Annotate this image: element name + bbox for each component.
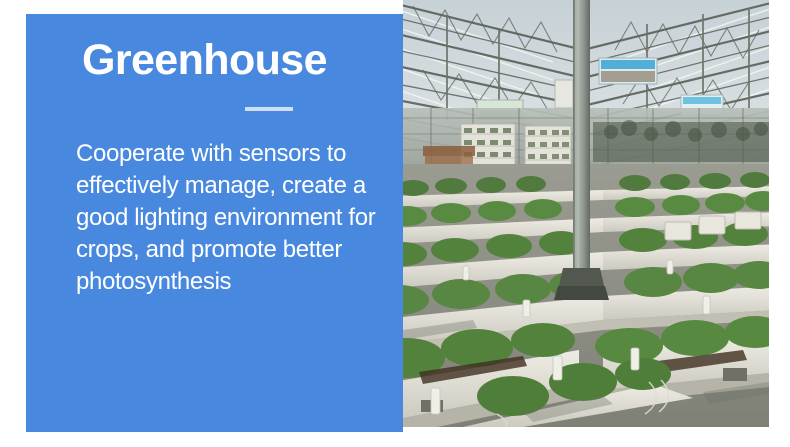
greenhouse-photo (403, 0, 769, 427)
panel-content: Greenhouse Cooperate with sensors to eff… (26, 14, 403, 298)
panel-body-text: Cooperate with sensors to effectively ma… (76, 138, 381, 298)
title-divider (245, 107, 293, 111)
greenhouse-photo-illustration (403, 0, 769, 427)
slide-root: Greenhouse Cooperate with sensors to eff… (0, 0, 790, 447)
page-title: Greenhouse (82, 38, 381, 83)
blue-text-panel: Greenhouse Cooperate with sensors to eff… (26, 14, 403, 432)
